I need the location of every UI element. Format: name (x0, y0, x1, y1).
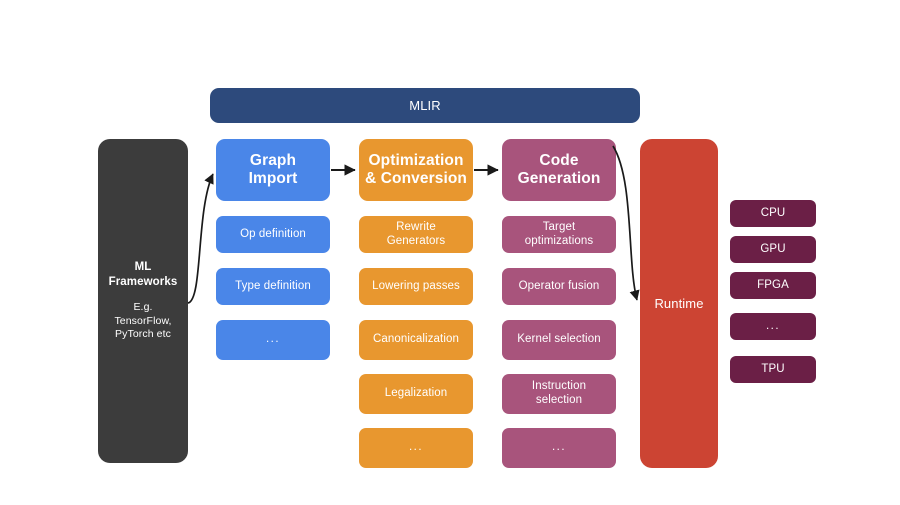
item-instruction-selection-label: Instruction selection (532, 380, 586, 407)
item-type-definition[interactable]: Type definition (216, 268, 330, 305)
item-target-optimizations-label: Target optimizations (525, 221, 593, 248)
item-legalization[interactable]: Legalization (359, 374, 473, 414)
item-type-definition-label: Type definition (235, 280, 311, 294)
stage-optimization-conversion-label: Optimization & Conversion (365, 152, 467, 189)
item-operator-fusion[interactable]: Operator fusion (502, 268, 616, 305)
stage-graph-import[interactable]: Graph Import (216, 139, 330, 201)
item-kernel-selection[interactable]: Kernel selection (502, 320, 616, 360)
runtime-label: Runtime (654, 296, 703, 311)
hardware-fpga[interactable]: FPGA (730, 272, 816, 299)
item-kernel-selection-label: Kernel selection (517, 333, 600, 347)
hardware-tpu[interactable]: TPU (730, 356, 816, 383)
ml-frameworks-title: ML Frameworks (109, 260, 178, 290)
hardware-gpu-label: GPU (760, 243, 785, 257)
hardware-fpga-label: FPGA (757, 279, 789, 293)
hardware-gpu[interactable]: GPU (730, 236, 816, 263)
item-operator-fusion-label: Operator fusion (519, 280, 600, 294)
item-code-generation-more[interactable]: ... (502, 428, 616, 468)
hardware-more[interactable]: ... (730, 313, 816, 340)
item-optimization-more[interactable]: ... (359, 428, 473, 468)
ml-frameworks-subtitle: E.g. TensorFlow, PyTorch etc (114, 301, 171, 342)
item-rewrite-generators-label: Rewrite Generators (387, 221, 446, 248)
runtime-box[interactable]: Runtime (640, 139, 718, 468)
item-op-definition[interactable]: Op definition (216, 216, 330, 253)
item-rewrite-generators[interactable]: Rewrite Generators (359, 216, 473, 253)
item-lowering-passes[interactable]: Lowering passes (359, 268, 473, 305)
mlir-title-label: MLIR (409, 98, 440, 113)
item-code-generation-more-label: ... (552, 441, 566, 455)
diagram-canvas: MLIR ML Frameworks E.g. TensorFlow, PyTo… (0, 0, 900, 505)
item-target-optimizations[interactable]: Target optimizations (502, 216, 616, 253)
hardware-more-label: ... (766, 320, 780, 334)
item-lowering-passes-label: Lowering passes (372, 280, 460, 294)
item-instruction-selection[interactable]: Instruction selection (502, 374, 616, 414)
item-canonicalization[interactable]: Canonicalization (359, 320, 473, 360)
hardware-cpu[interactable]: CPU (730, 200, 816, 227)
item-canonicalization-label: Canonicalization (373, 333, 459, 347)
item-graph-import-more[interactable]: ... (216, 320, 330, 360)
stage-code-generation[interactable]: Code Generation (502, 139, 616, 201)
hardware-cpu-label: CPU (761, 207, 786, 221)
item-legalization-label: Legalization (385, 387, 448, 401)
stage-optimization-conversion[interactable]: Optimization & Conversion (359, 139, 473, 201)
item-graph-import-more-label: ... (266, 333, 280, 347)
item-optimization-more-label: ... (409, 441, 423, 455)
hardware-tpu-label: TPU (761, 363, 784, 377)
arrow-code-generation-to-runtime (613, 146, 637, 300)
arrow-frameworks-to-graph-import (188, 174, 213, 303)
mlir-title-bar: MLIR (210, 88, 640, 123)
stage-code-generation-label: Code Generation (518, 152, 601, 189)
item-op-definition-label: Op definition (240, 228, 306, 242)
stage-graph-import-label: Graph Import (249, 152, 298, 189)
ml-frameworks-box: ML Frameworks E.g. TensorFlow, PyTorch e… (98, 139, 188, 463)
